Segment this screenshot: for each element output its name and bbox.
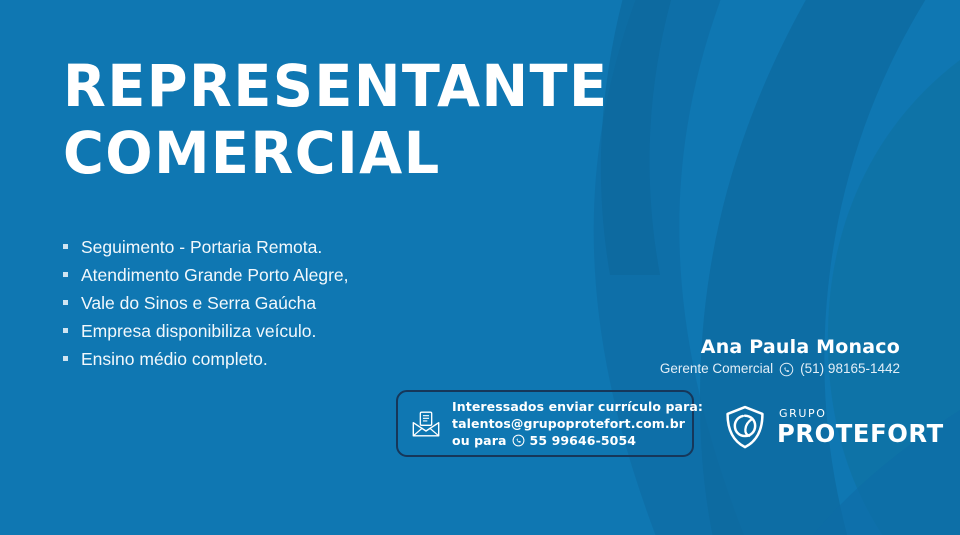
list-item-label: Empresa disponibiliza veículo. <box>81 317 316 345</box>
brand-logo: GRUPO PROTEFORT <box>722 404 949 450</box>
list-item: Vale do Sinos e Serra Gaúcha <box>63 289 349 317</box>
square-bullet-icon <box>63 328 68 333</box>
application-contact-text: Interessados enviar currículo para: tale… <box>452 398 703 449</box>
list-item-label: Vale do Sinos e Serra Gaúcha <box>81 289 316 317</box>
cta-whatsapp-number[interactable]: 55 99646-5054 <box>530 432 637 449</box>
page-title-line-2: COMERCIAL <box>63 124 677 182</box>
list-item: Seguimento - Portaria Remota. <box>63 233 349 261</box>
contact-person-details: Gerente Comercial (51) 98165-1442 <box>580 361 900 377</box>
contact-person-phone: (51) 98165-1442 <box>800 361 900 377</box>
requirements-list: Seguimento - Portaria Remota. Atendiment… <box>63 233 349 373</box>
list-item: Atendimento Grande Porto Alegre, <box>63 261 349 289</box>
envelope-document-icon <box>412 410 440 438</box>
square-bullet-icon <box>63 356 68 361</box>
page-title-line-1: REPRESENTANTE <box>63 57 677 115</box>
cta-headline: Interessados enviar currículo para: <box>452 398 703 415</box>
square-bullet-icon <box>63 300 68 305</box>
application-contact-box: Interessados enviar currículo para: tale… <box>396 390 694 457</box>
cta-email-address[interactable]: talentos@grupoprotefort.com.br <box>452 415 703 432</box>
whatsapp-icon <box>779 362 794 377</box>
cta-whatsapp-line: ou para 55 99646-5054 <box>452 432 703 449</box>
cta-whatsapp-prefix: ou para <box>452 432 507 449</box>
whatsapp-icon <box>512 434 525 447</box>
list-item-label: Ensino médio completo. <box>81 345 268 373</box>
list-item: Empresa disponibiliza veículo. <box>63 317 349 345</box>
job-ad-poster: REPRESENTANTE COMERCIAL Seguimento - Por… <box>0 0 960 535</box>
contact-person-role: Gerente Comercial <box>660 361 773 377</box>
list-item-label: Seguimento - Portaria Remota. <box>81 233 322 261</box>
brand-logo-grupo: GRUPO <box>779 408 949 419</box>
protefort-shield-icon <box>722 404 768 450</box>
square-bullet-icon <box>63 272 68 277</box>
page-title: REPRESENTANTE COMERCIAL <box>63 57 703 182</box>
brand-logo-wordmark: GRUPO PROTEFORT <box>777 408 949 446</box>
brand-logo-name: PROTEFORT <box>777 421 944 446</box>
contact-person-name: Ana Paula Monaco <box>580 336 900 358</box>
square-bullet-icon <box>63 244 68 249</box>
list-item: Ensino médio completo. <box>63 345 349 373</box>
list-item-label: Atendimento Grande Porto Alegre, <box>81 261 349 289</box>
contact-person-block: Ana Paula Monaco Gerente Comercial (51) … <box>580 336 900 377</box>
